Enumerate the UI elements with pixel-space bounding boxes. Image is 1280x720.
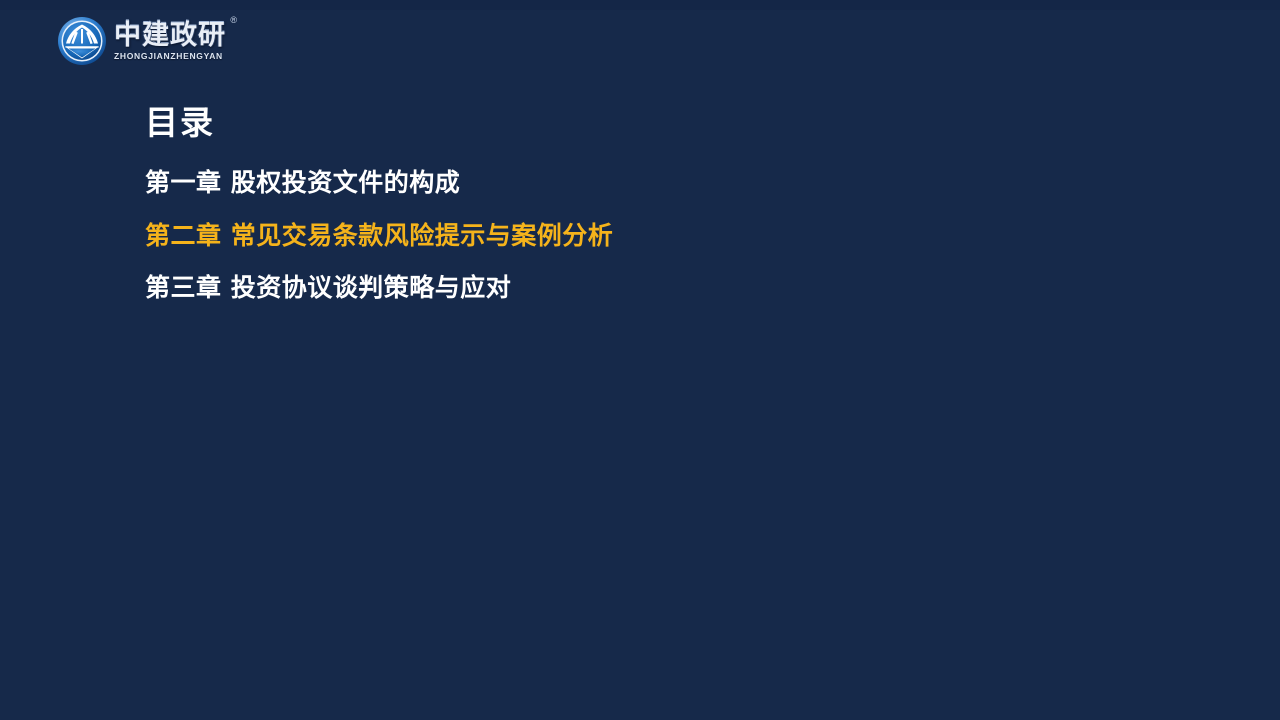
presentation-slide: 中建政研 ® ZHONGJIANZHENGYAN 目录 第一章 股权投资文件的构… bbox=[0, 0, 1280, 720]
zhongjian-zhengyan-circular-emblem-icon bbox=[57, 16, 107, 66]
toc-item-chapter-2[interactable]: 第二章 常见交易条款风险提示与案例分析 bbox=[145, 221, 1145, 252]
logo-chinese-name: 中建政研 bbox=[114, 22, 226, 49]
company-logo: 中建政研 ® ZHONGJIANZHENGYAN bbox=[57, 15, 237, 67]
toc-item-chapter-3[interactable]: 第三章 投资协议谈判策略与应对 bbox=[145, 273, 1145, 304]
logo-wordmark: 中建政研 ® ZHONGJIANZHENGYAN bbox=[114, 17, 226, 65]
toc-item-chapter-1[interactable]: 第一章 股权投资文件的构成 bbox=[145, 168, 1145, 199]
top-band bbox=[0, 0, 1280, 10]
logo-pinyin: ZHONGJIANZHENGYAN bbox=[114, 51, 226, 61]
registered-trademark-icon: ® bbox=[230, 15, 237, 25]
table-of-contents: 第一章 股权投资文件的构成 第二章 常见交易条款风险提示与案例分析 第三章 投资… bbox=[145, 168, 1145, 304]
page-title: 目录 bbox=[145, 103, 215, 143]
